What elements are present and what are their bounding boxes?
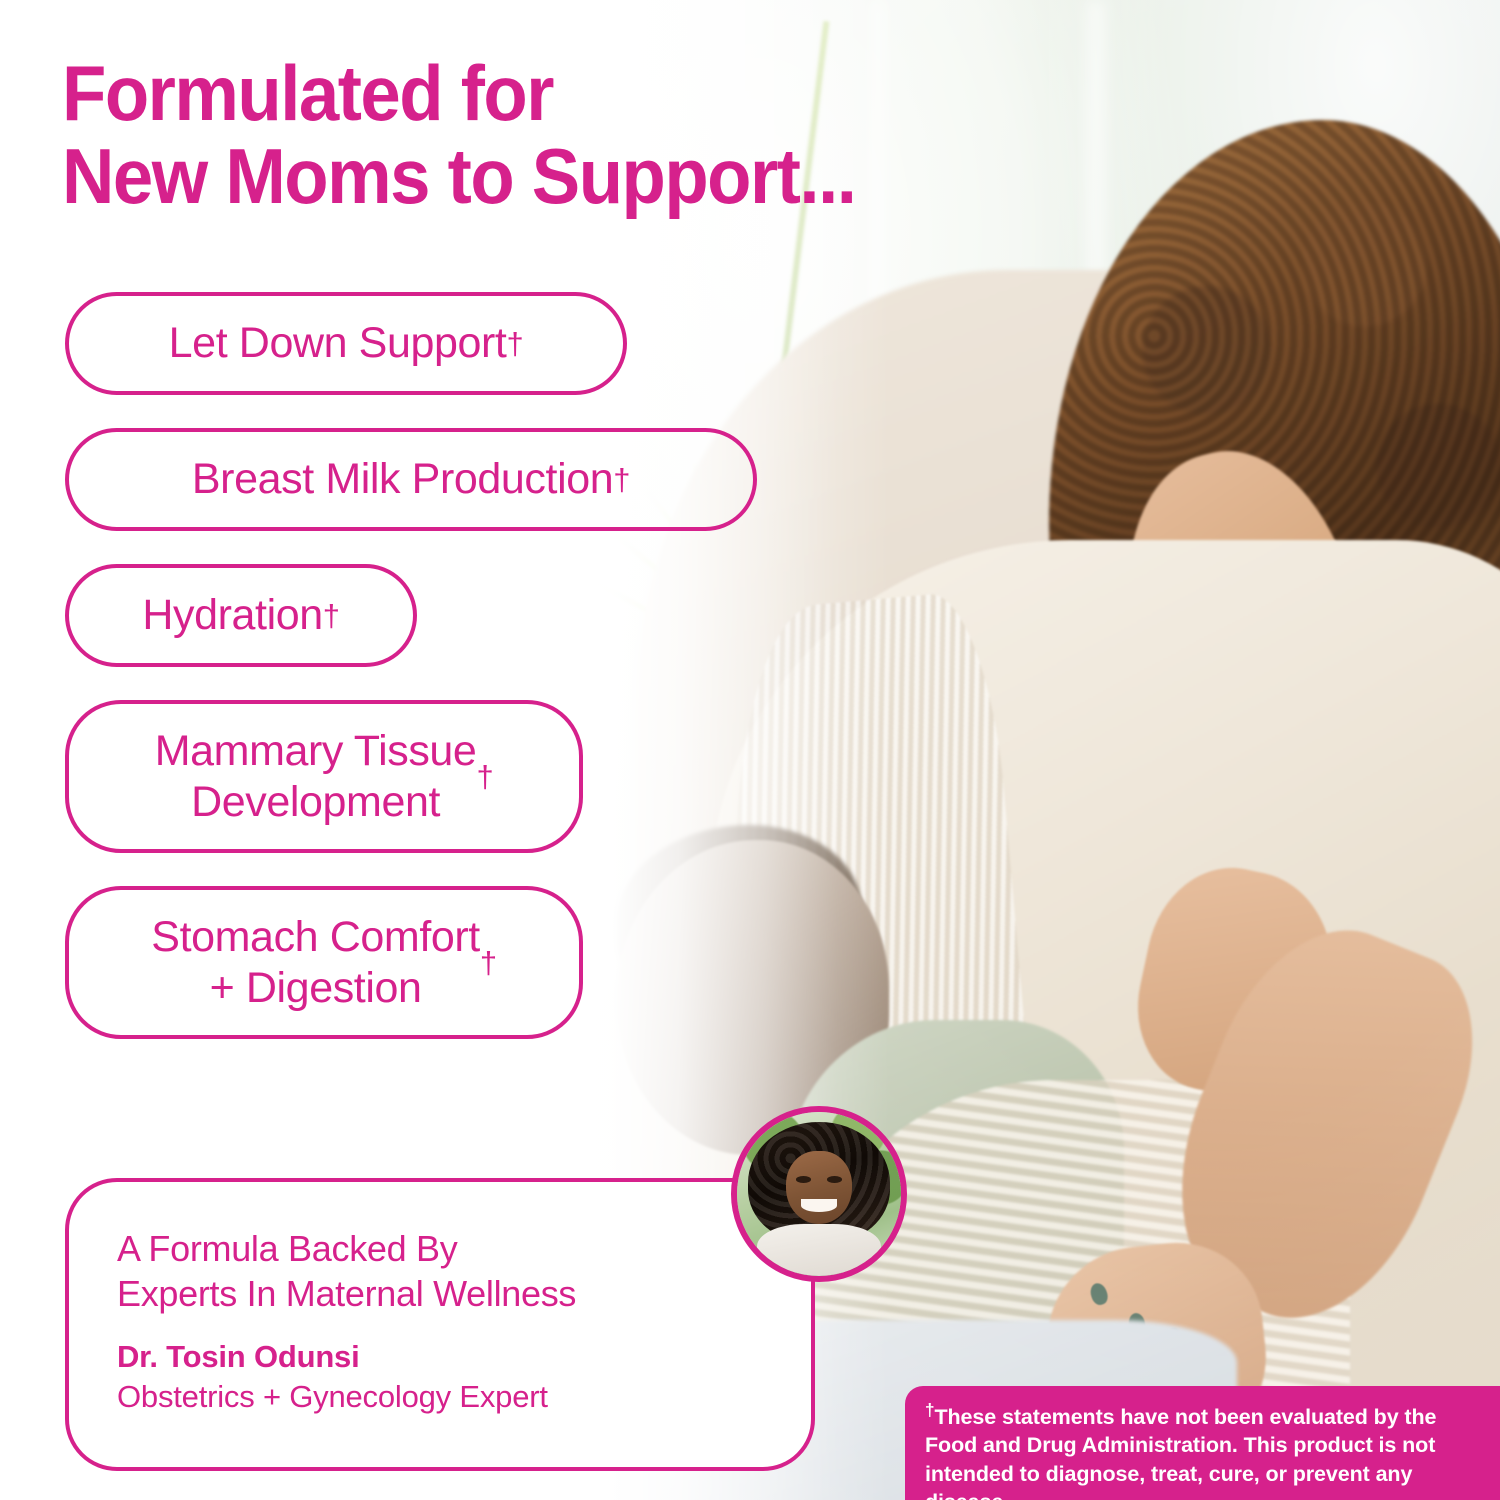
benefit-label: Mammary Tissue Development	[155, 726, 477, 827]
benefit-label: Stomach Comfort + Digestion	[151, 912, 480, 1013]
benefit-pill-mammary-tissue-development[interactable]: Mammary Tissue Development†	[65, 700, 583, 853]
avatar	[731, 1106, 907, 1282]
benefit-pill-hydration[interactable]: Hydration†	[65, 564, 417, 667]
expert-endorsement-card: A Formula Backed By Experts In Maternal …	[65, 1178, 815, 1471]
avatar-eye	[796, 1176, 811, 1183]
expert-role: Obstetrics + Gynecology Expert	[117, 1379, 811, 1415]
benefit-pill-let-down-support[interactable]: Let Down Support†	[65, 292, 627, 395]
benefit-list: Let Down Support† Breast Milk Production…	[65, 292, 757, 1039]
avatar-smile	[801, 1199, 837, 1212]
avatar-eye	[827, 1176, 842, 1183]
benefit-label: Breast Milk Production	[192, 454, 613, 504]
avatar-face	[786, 1151, 852, 1223]
page-title: Formulated for New Moms to Support...	[62, 52, 992, 219]
avatar-lab-coat	[757, 1224, 882, 1282]
expert-card-title: A Formula Backed By Experts In Maternal …	[117, 1226, 811, 1317]
benefit-pill-breast-milk-production[interactable]: Breast Milk Production†	[65, 428, 757, 531]
fda-disclaimer: †These statements have not been evaluate…	[905, 1386, 1500, 1500]
ad-canvas: Formulated for New Moms to Support... Le…	[0, 0, 1500, 1500]
benefit-label: Let Down Support	[169, 318, 507, 368]
benefit-label: Hydration	[142, 590, 322, 640]
expert-name: Dr. Tosin Odunsi	[117, 1339, 811, 1375]
benefit-pill-stomach-comfort-digestion[interactable]: Stomach Comfort + Digestion†	[65, 886, 583, 1039]
disclaimer-text: These statements have not been evaluated…	[925, 1405, 1436, 1500]
